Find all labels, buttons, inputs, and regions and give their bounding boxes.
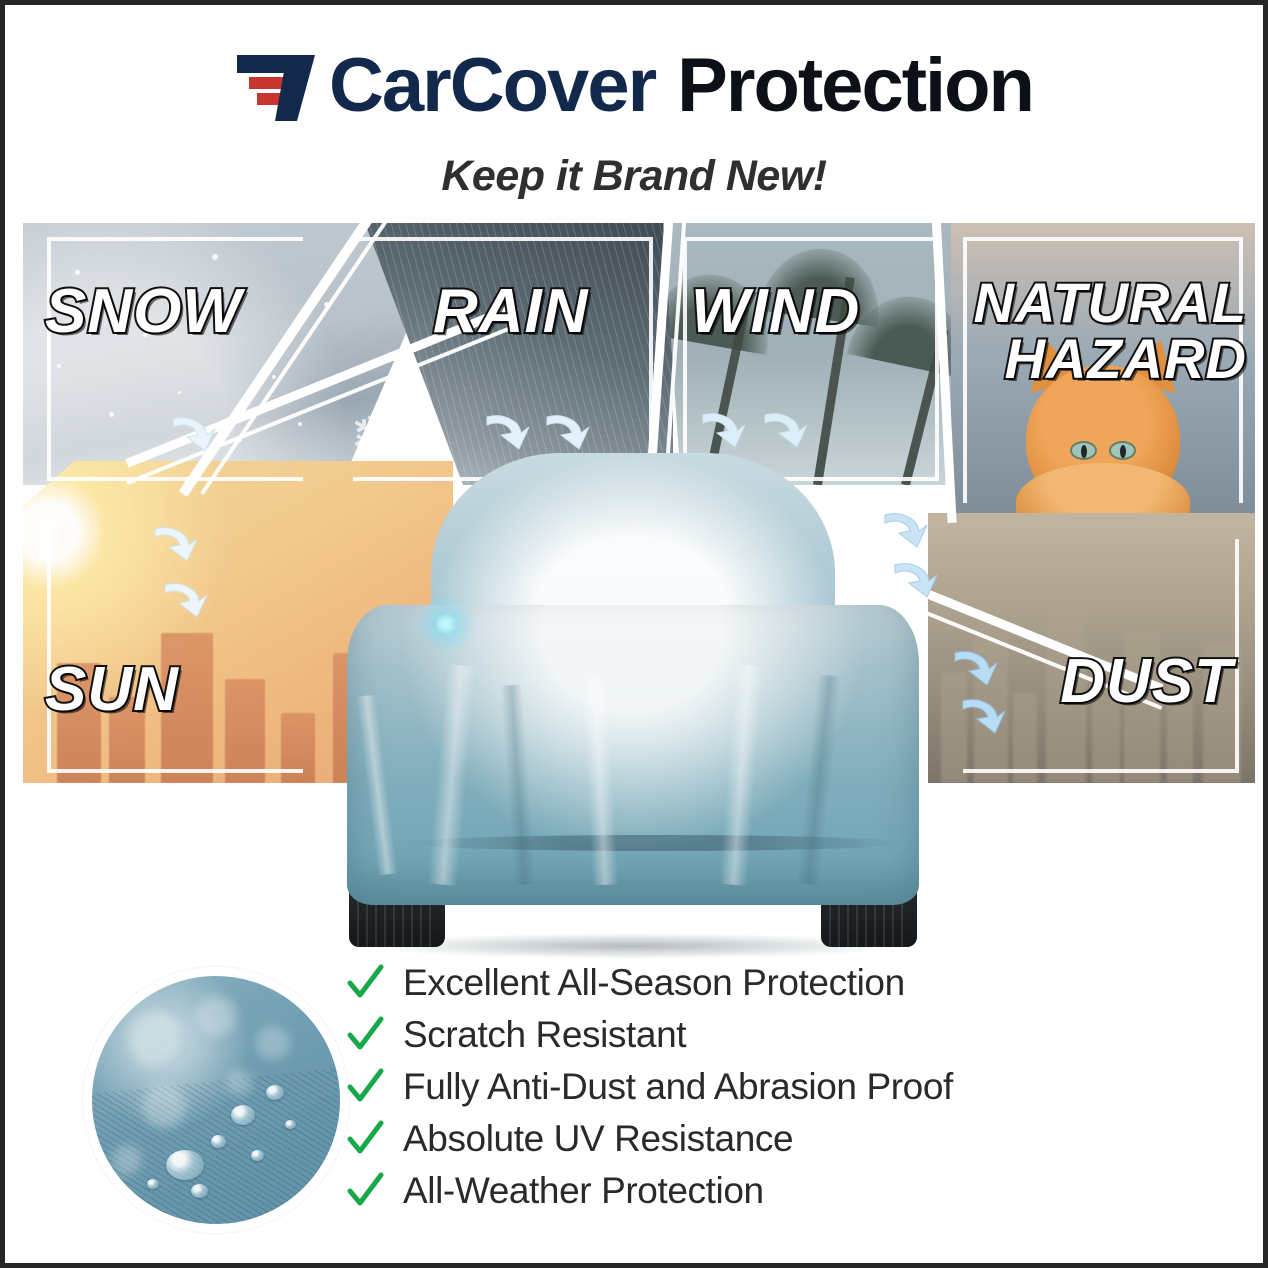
panel-label-wind: WIND (691, 281, 860, 343)
product-word: Protection (677, 48, 1033, 124)
product-infographic-page: CarCover Protection Keep it Brand New! ❄ (0, 0, 1268, 1268)
covered-car-image (323, 435, 943, 955)
deflection-arrow-icon (953, 647, 999, 687)
deflection-arrow-icon (163, 579, 209, 619)
feature-label: Excellent All-Season Protection (403, 962, 905, 1004)
feature-item: Absolute UV Resistance (345, 1113, 1175, 1165)
checkmark-icon (345, 963, 385, 1003)
icarcover-logo-icon (235, 47, 325, 125)
feature-item: All-Weather Protection (345, 1165, 1175, 1217)
checkmark-icon (345, 1171, 385, 1211)
feature-list: Excellent All-Season Protection Scratch … (345, 957, 1175, 1217)
feature-item: Fully Anti-Dust and Abrasion Proof (345, 1061, 1175, 1113)
panel-label-sun: SUN (45, 659, 179, 721)
brand-name: CarCover (329, 48, 655, 124)
water-beading-fabric-closeup (83, 967, 349, 1233)
deflection-arrow-icon (961, 695, 1007, 735)
deflection-arrow-icon (153, 523, 199, 563)
panel-label-snow: SNOW (45, 281, 242, 343)
feature-item: Scratch Resistant (345, 1009, 1175, 1061)
feature-label: Fully Anti-Dust and Abrasion Proof (403, 1066, 953, 1108)
cover-seam (407, 835, 907, 851)
checkmark-icon (345, 1067, 385, 1107)
header: CarCover Protection Keep it Brand New! (5, 33, 1263, 213)
feature-label: All-Weather Protection (403, 1170, 764, 1212)
panel-label-dust: DUST (1060, 651, 1233, 713)
feature-label: Absolute UV Resistance (403, 1118, 793, 1160)
title-row: CarCover Protection (5, 33, 1263, 138)
checkmark-icon (345, 1015, 385, 1055)
panel-label-natural-hazard: NATURAL HAZARD (974, 275, 1247, 387)
feature-item: Excellent All-Season Protection (345, 957, 1175, 1009)
tagline: Keep it Brand New! (5, 152, 1263, 201)
checkmark-icon (345, 1119, 385, 1159)
panel-label-rain: RAIN (433, 281, 589, 343)
feature-label: Scratch Resistant (403, 1014, 686, 1056)
shine-sparkle-icon (411, 589, 481, 659)
deflection-arrow-icon (171, 413, 217, 453)
